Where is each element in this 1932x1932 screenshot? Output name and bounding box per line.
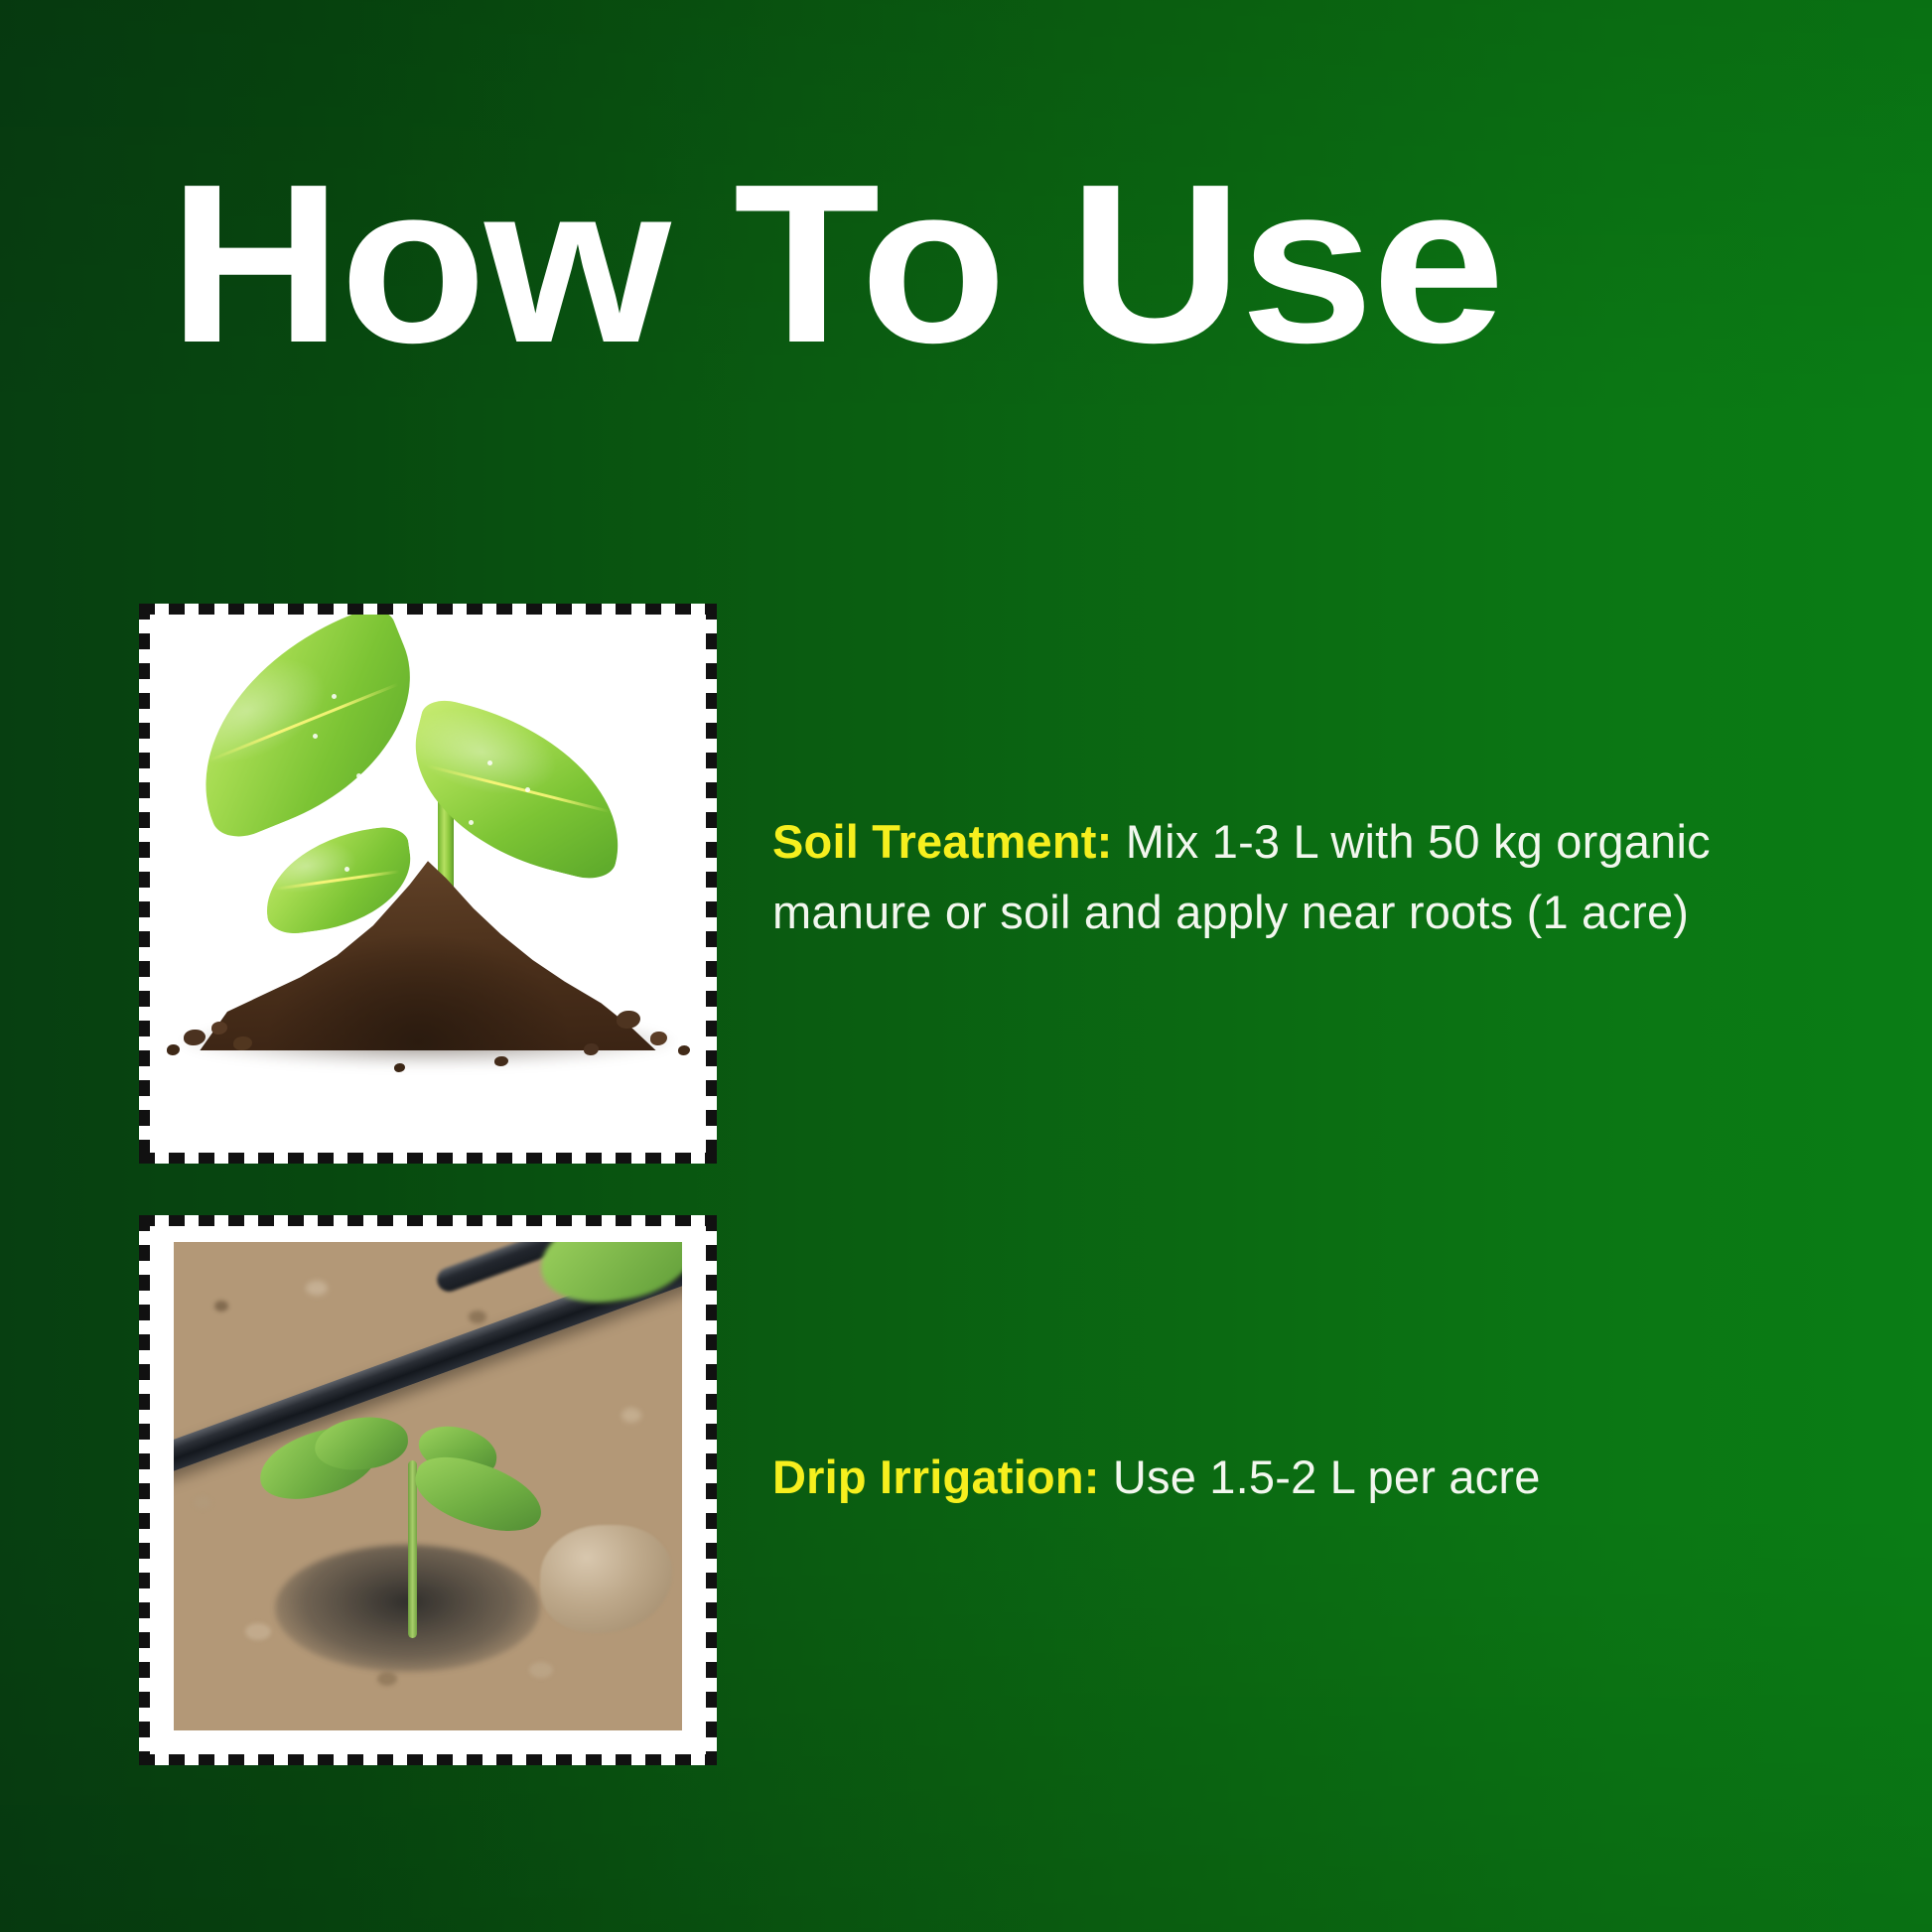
leaf-right [393, 695, 644, 886]
drip-irrigation-label: Drip Irrigation: [772, 1450, 1100, 1503]
instruction-row-drip-irrigation: Drip Irrigation: Use 1.5-2 L per acre [0, 1215, 1932, 1767]
drip-irrigation-photo-mat [150, 1226, 706, 1754]
soil-treatment-image-frame [139, 604, 717, 1164]
seedling-leaf-left-inner [313, 1415, 410, 1472]
soil-treatment-label: Soil Treatment: [772, 815, 1113, 868]
drip-irrigation-image-frame [139, 1215, 717, 1765]
drip-irrigation-seedling-photo [174, 1242, 682, 1730]
drip-irrigation-text: Drip Irrigation: Use 1.5-2 L per acre [772, 1442, 1855, 1512]
instruction-row-soil-treatment: Soil Treatment: Mix 1-3 L with 50 kg org… [0, 604, 1932, 1166]
soil-scene [150, 615, 706, 1153]
drip-irrigation-body: Use 1.5-2 L per acre [1100, 1450, 1541, 1503]
cotton-seedling [356, 1418, 591, 1652]
soil-treatment-text: Soil Treatment: Mix 1-3 L with 50 kg org… [772, 806, 1855, 948]
seedling-in-soil-mound-photo [150, 615, 706, 1153]
page-title: How To Use [169, 149, 1873, 380]
poster-canvas: How To Use [0, 0, 1932, 1932]
